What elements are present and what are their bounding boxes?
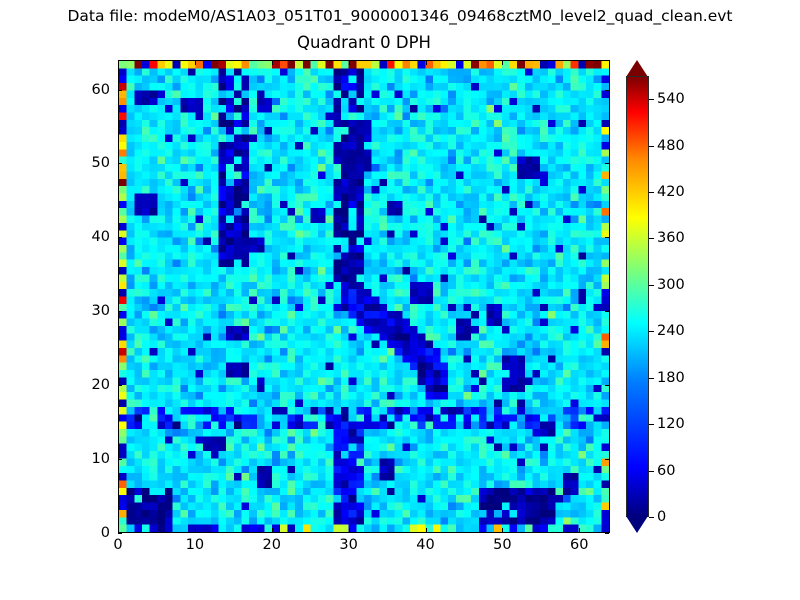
y-tick-mark xyxy=(118,90,122,91)
y-tick-mark-right xyxy=(605,385,609,386)
x-tick-mark xyxy=(502,528,503,532)
x-tick-mark xyxy=(118,528,119,532)
y-tick-label: 20 xyxy=(74,377,110,393)
colorbar-tick-mark xyxy=(649,378,654,379)
colorbar-tick-mark xyxy=(649,146,654,147)
colorbar-gradient xyxy=(626,76,649,517)
x-tick-label: 0 xyxy=(113,537,122,553)
colorbar-tick-label: 420 xyxy=(657,184,685,200)
x-tick-mark-top xyxy=(272,61,273,65)
heatmap-image xyxy=(119,61,609,532)
y-tick-mark xyxy=(118,311,122,312)
data-file-suptitle: Data file: modeM0/AS1A03_051T01_90000013… xyxy=(0,7,800,25)
x-tick-mark-top xyxy=(349,61,350,65)
colorbar-tick-label: 480 xyxy=(657,138,685,154)
x-tick-label: 20 xyxy=(263,537,281,553)
y-tick-mark-right xyxy=(605,90,609,91)
colorbar-tick-label: 60 xyxy=(657,463,675,479)
y-tick-mark-right xyxy=(605,163,609,164)
x-tick-mark xyxy=(579,528,580,532)
colorbar-tick-mark xyxy=(649,238,654,239)
y-tick-mark-right xyxy=(605,311,609,312)
y-tick-mark xyxy=(118,533,122,534)
x-tick-label: 40 xyxy=(416,537,434,553)
x-tick-mark-top xyxy=(579,61,580,65)
colorbar-over-arrow xyxy=(626,60,648,77)
x-tick-mark xyxy=(195,528,196,532)
colorbar-tick-mark xyxy=(649,471,654,472)
plot-title: Quadrant 0 DPH xyxy=(118,33,610,52)
y-tick-mark xyxy=(118,163,122,164)
y-tick-mark-right xyxy=(605,237,609,238)
colorbar-tick-label: 300 xyxy=(657,277,685,293)
colorbar-tick-mark xyxy=(649,517,654,518)
colorbar-tick-mark xyxy=(649,331,654,332)
figure-canvas: Data file: modeM0/AS1A03_051T01_90000013… xyxy=(0,0,800,600)
x-tick-mark-top xyxy=(502,61,503,65)
y-tick-label: 60 xyxy=(74,82,110,98)
colorbar-tick-label: 180 xyxy=(657,370,685,386)
colorbar-tick-label: 360 xyxy=(657,230,685,246)
colorbar-tick-label: 240 xyxy=(657,323,685,339)
y-tick-mark xyxy=(118,385,122,386)
colorbar-tick-label: 120 xyxy=(657,416,685,432)
colorbar-tick-label: 540 xyxy=(657,91,685,107)
y-tick-mark xyxy=(118,237,122,238)
colorbar[interactable]: 060120180240300360420480540 xyxy=(626,60,649,533)
x-tick-mark xyxy=(272,528,273,532)
x-tick-label: 30 xyxy=(339,537,357,553)
x-tick-mark-top xyxy=(426,61,427,65)
y-tick-mark xyxy=(118,459,122,460)
colorbar-under-arrow xyxy=(626,516,648,533)
x-tick-mark xyxy=(426,528,427,532)
x-tick-mark-top xyxy=(195,61,196,65)
heatmap-axes[interactable] xyxy=(118,60,610,533)
colorbar-tick-label: 0 xyxy=(657,509,666,525)
x-tick-label: 60 xyxy=(570,537,588,553)
y-tick-label: 30 xyxy=(74,303,110,319)
x-tick-mark-top xyxy=(118,61,119,65)
colorbar-tick-mark xyxy=(649,424,654,425)
y-tick-label: 0 xyxy=(74,525,110,541)
colorbar-tick-mark xyxy=(649,285,654,286)
colorbar-tick-mark xyxy=(649,99,654,100)
y-tick-mark-right xyxy=(605,533,609,534)
y-tick-label: 40 xyxy=(74,229,110,245)
x-tick-label: 10 xyxy=(186,537,204,553)
x-tick-label: 50 xyxy=(493,537,511,553)
y-tick-mark-right xyxy=(605,459,609,460)
y-tick-label: 10 xyxy=(74,451,110,467)
colorbar-tick-mark xyxy=(649,192,654,193)
y-tick-label: 50 xyxy=(74,155,110,171)
x-tick-mark xyxy=(349,528,350,532)
